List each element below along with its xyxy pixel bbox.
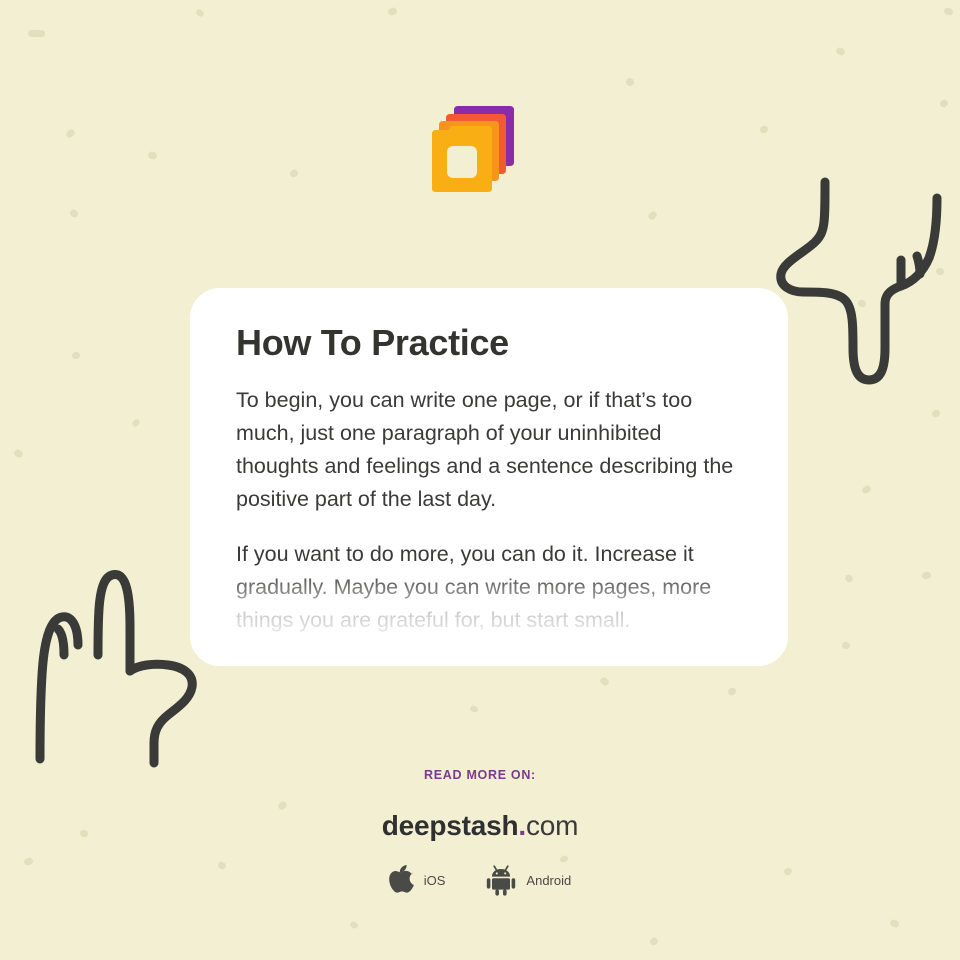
confetti-speck xyxy=(349,920,359,929)
confetti-speck xyxy=(289,168,299,178)
card-paragraph-2: If you want to do more, you can do it. I… xyxy=(236,538,742,637)
confetti-speck xyxy=(624,76,635,87)
confetti-speck xyxy=(857,299,867,309)
store-label-ios: iOS xyxy=(424,873,446,888)
confetti-speck xyxy=(921,571,932,580)
android-icon xyxy=(485,864,517,896)
confetti-speck xyxy=(939,98,950,108)
confetti-speck xyxy=(844,573,855,584)
confetti-speck xyxy=(195,8,205,18)
store-label-android: Android xyxy=(526,873,571,888)
confetti-speck xyxy=(69,208,80,219)
confetti-speck xyxy=(28,30,45,38)
confetti-speck xyxy=(131,418,141,428)
confetti-speck xyxy=(861,484,872,495)
idea-card: How To Practice To begin, you can write … xyxy=(190,288,788,666)
footer: READ MORE ON: deepstash.com iOS xyxy=(0,768,960,896)
card-title: How To Practice xyxy=(236,322,742,364)
brand-wordmark[interactable]: deepstash.com xyxy=(0,810,960,842)
card-paragraph-1: To begin, you can write one page, or if … xyxy=(236,384,742,516)
confetti-speck xyxy=(387,7,398,17)
confetti-speck xyxy=(759,125,769,135)
confetti-speck xyxy=(935,267,945,276)
confetti-speck xyxy=(727,687,737,697)
confetti-speck xyxy=(469,705,478,713)
confetti-speck xyxy=(931,409,941,418)
confetti-speck xyxy=(147,151,158,161)
brand-dot: . xyxy=(518,810,526,841)
confetti-speck xyxy=(13,448,24,459)
confetti-speck xyxy=(65,128,76,139)
hand-illustration-left xyxy=(28,565,203,775)
deepstash-logo xyxy=(430,104,516,198)
brand-tld: com xyxy=(526,810,578,841)
brand-name: deepstash xyxy=(382,810,519,841)
confetti-speck xyxy=(835,46,846,56)
confetti-speck xyxy=(599,676,610,687)
store-badge-ios[interactable]: iOS xyxy=(389,865,446,895)
confetti-speck xyxy=(841,641,851,650)
hand-illustration-right xyxy=(777,176,952,391)
read-more-label: READ MORE ON: xyxy=(0,768,960,782)
store-badge-android[interactable]: Android xyxy=(485,864,571,896)
confetti-speck xyxy=(889,919,900,929)
poster-canvas: How To Practice To begin, you can write … xyxy=(0,0,960,960)
confetti-speck xyxy=(647,210,658,221)
confetti-speck xyxy=(649,936,660,947)
apple-icon xyxy=(389,865,415,895)
confetti-speck xyxy=(71,351,81,360)
confetti-speck xyxy=(943,7,954,16)
store-badges: iOS xyxy=(0,864,960,896)
card-content: How To Practice To begin, you can write … xyxy=(190,288,788,666)
